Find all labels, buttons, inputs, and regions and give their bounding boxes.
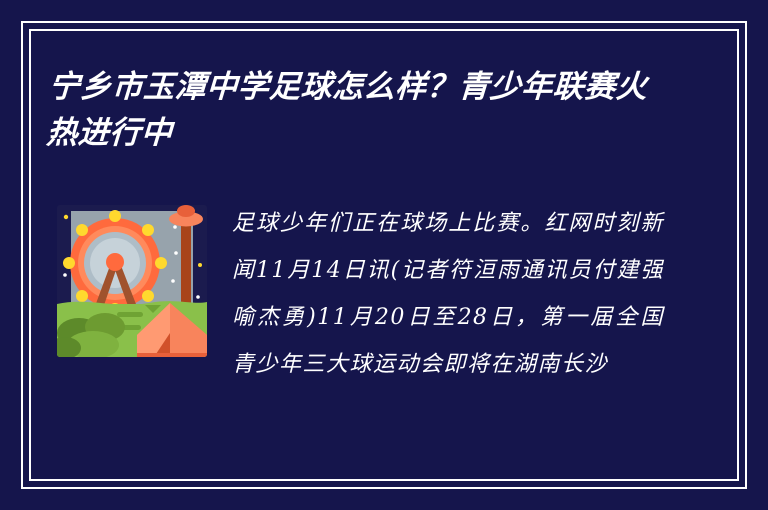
article-card: 宁乡市玉潭中学足球怎么样？青少年联赛火热进行中 — [0, 0, 768, 510]
article-body-text: 足球少年们正在球场上比赛。红网时刻新闻11月14日讯(记者符洹雨通讯员付建强喻杰… — [232, 200, 664, 388]
page-title: 宁乡市玉潭中学足球怎么样？青少年联赛火热进行中 — [45, 64, 660, 156]
illustration-ferris-wheel — [57, 205, 207, 357]
ferris-wheel-icon — [57, 205, 207, 357]
